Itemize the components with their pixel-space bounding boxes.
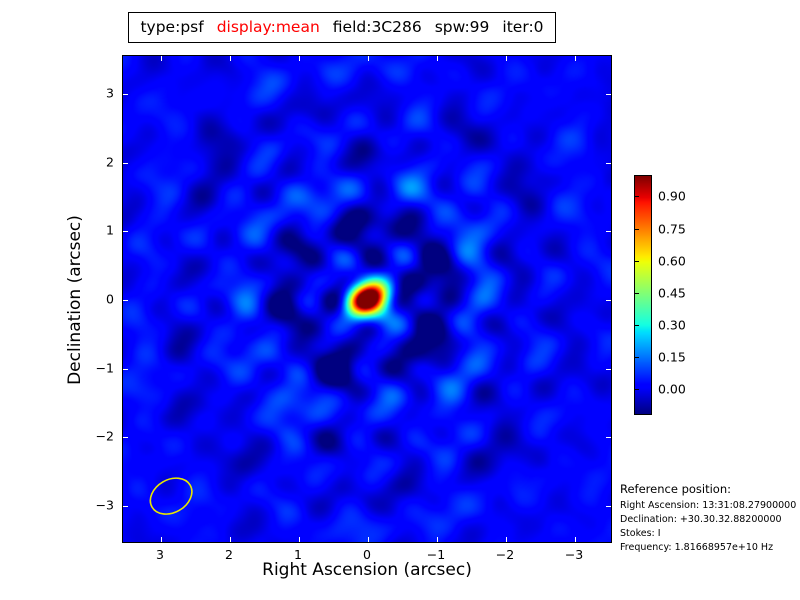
title-segment-0: type:psf: [140, 20, 203, 36]
colorbar-tick-mark: [634, 229, 639, 230]
y-tick-label: −2: [96, 429, 114, 444]
colorbar-tick-label: 0.90: [658, 189, 686, 204]
title-segment-4: iter:0: [502, 20, 543, 36]
y-tick-mark: [123, 300, 128, 301]
reference-position-heading: Reference position:: [620, 482, 800, 496]
colorbar-tick-label: 0.30: [658, 318, 686, 333]
colorbar-tick-mark: [634, 325, 639, 326]
y-tick-label: 0: [106, 292, 114, 307]
colorbar[interactable]: [634, 175, 652, 415]
y-tick-mark: [606, 300, 611, 301]
y-tick-label: 1: [106, 223, 114, 238]
y-axis-title: Declination (arcsec): [65, 55, 85, 545]
x-tick-mark: [506, 56, 507, 61]
reference-position-panel: Reference position: Right Ascension: 13:…: [620, 482, 800, 556]
y-tick-label: −3: [96, 498, 114, 513]
x-tick-mark: [575, 537, 576, 542]
colorbar-tick-label: 0.60: [658, 253, 686, 268]
y-tick-mark: [123, 369, 128, 370]
colorbar-tick-mark: [634, 261, 639, 262]
title-segment-3: spw:99: [435, 20, 490, 36]
colorbar-tick-label: 0.00: [658, 382, 686, 397]
psf-image-plot[interactable]: [122, 55, 612, 543]
colorbar-tick-label: 0.75: [658, 221, 686, 236]
y-tick-label: 3: [106, 85, 114, 100]
y-tick-mark: [123, 437, 128, 438]
colorbar-tick-mark: [634, 357, 639, 358]
x-tick-mark: [437, 537, 438, 542]
colorbar-tick-label: 0.15: [658, 350, 686, 365]
colorbar-tick-label: 0.45: [658, 285, 686, 300]
reference-declination: Declination: +30.30.32.88200000: [620, 514, 800, 525]
colorbar-tick-mark: [634, 389, 639, 390]
y-tick-mark: [123, 231, 128, 232]
title-segment-1: display:mean: [217, 20, 320, 36]
y-tick-mark: [123, 163, 128, 164]
colorbar-tick-mark: [634, 196, 639, 197]
x-tick-mark: [506, 537, 507, 542]
reference-stokes: Stokes: I: [620, 528, 800, 539]
x-tick-mark: [230, 537, 231, 542]
x-tick-mark: [230, 56, 231, 61]
y-tick-label: −1: [96, 360, 114, 375]
y-tick-mark: [606, 437, 611, 438]
y-tick-mark: [606, 369, 611, 370]
title-bar: type:psfdisplay:meanfield:3C286spw:99ite…: [128, 12, 556, 43]
y-tick-mark: [606, 231, 611, 232]
psf-heatmap-canvas[interactable]: [123, 56, 611, 542]
y-tick-mark: [606, 94, 611, 95]
x-tick-mark: [299, 537, 300, 542]
x-tick-mark: [299, 56, 300, 61]
reference-frequency: Frequency: 1.81668957e+10 Hz: [620, 542, 800, 553]
y-tick-mark: [606, 506, 611, 507]
x-tick-mark: [437, 56, 438, 61]
title-segment-2: field:3C286: [333, 20, 422, 36]
y-tick-mark: [606, 163, 611, 164]
x-tick-mark: [368, 56, 369, 61]
x-tick-mark: [161, 537, 162, 542]
y-tick-label: 2: [106, 154, 114, 169]
x-tick-mark: [161, 56, 162, 61]
colorbar-gradient: [634, 175, 652, 415]
colorbar-tick-mark: [634, 293, 639, 294]
y-tick-mark: [123, 94, 128, 95]
y-tick-mark: [123, 506, 128, 507]
x-tick-mark: [575, 56, 576, 61]
x-tick-mark: [368, 537, 369, 542]
reference-right-ascension: Right Ascension: 13:31:08.27900000: [620, 500, 800, 511]
x-axis-title: Right Ascension (arcsec): [122, 560, 612, 580]
